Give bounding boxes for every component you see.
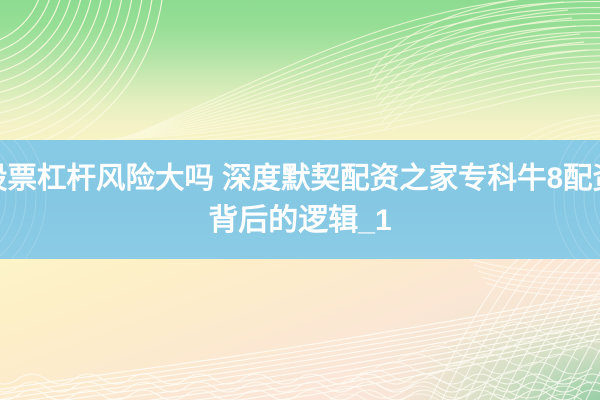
banner-image: 股票杠杆风险大吗 深度默契配资之家专科牛8配资 背后的逻辑_1 xyxy=(0,0,600,400)
top-wave-line-pattern xyxy=(0,0,600,140)
banner-title-line-2: 背后的逻辑_1 xyxy=(208,200,391,242)
banner-title: 股票杠杆风险大吗 深度默契配资之家专科牛8配资 背后的逻辑_1 xyxy=(0,140,600,259)
top-gradient-panel xyxy=(0,0,600,140)
bottom-wave-line-pattern xyxy=(0,259,600,400)
banner-title-line-1: 股票杠杆风险大吗 深度默契配资之家专科牛8配资 xyxy=(0,158,600,200)
bottom-gradient-panel xyxy=(0,259,600,400)
